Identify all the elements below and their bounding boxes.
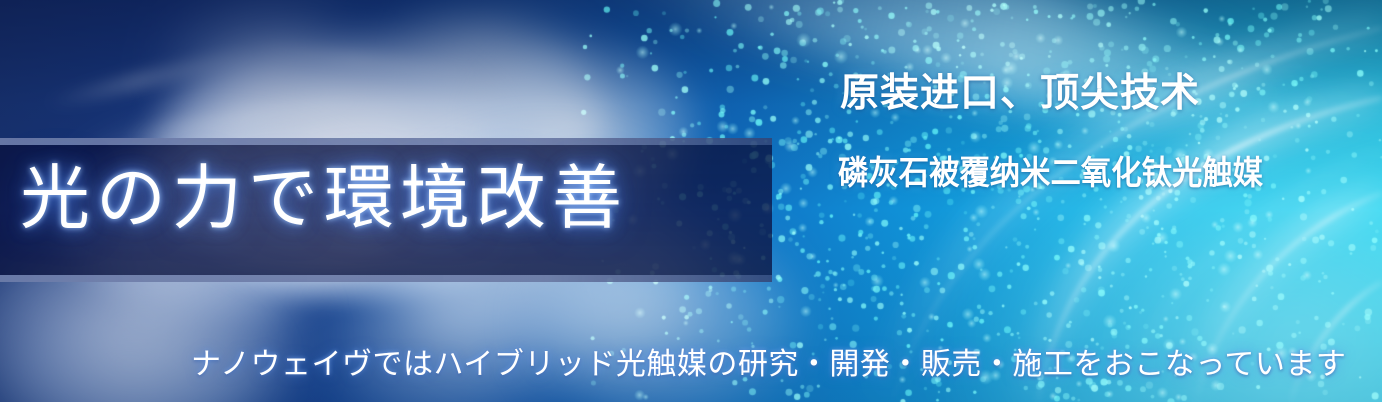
tagline: ナノウェイヴではハイブリッド光触媒の研究・開発・販売・施工をおこなっています — [191, 346, 1346, 384]
hero-banner: 光の力で環境改善 原装进口、顶尖技术 磷灰石被覆纳米二氧化钛光触媒 ナノウェイヴ… — [0, 0, 1382, 402]
subhead-line-2: 磷灰石被覆纳米二氧化钛光触媒 — [838, 154, 1263, 192]
page-title: 光の力で環境改善 — [20, 160, 740, 236]
subhead-line-1: 原装进口、顶尖技术 — [840, 72, 1200, 116]
